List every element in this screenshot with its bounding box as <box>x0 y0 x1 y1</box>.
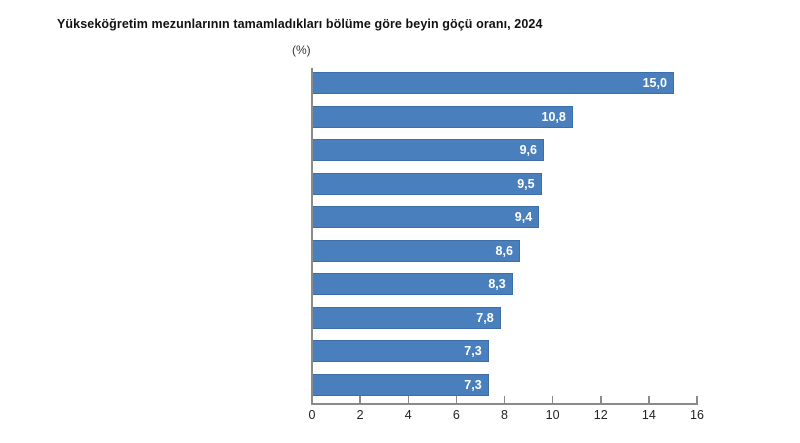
x-axis-tick-label: 16 <box>677 408 717 422</box>
x-axis-tick-label: 6 <box>436 408 476 422</box>
bar-value-label: 7,3 <box>422 340 482 362</box>
x-axis-tick-label: 0 <box>292 408 332 422</box>
x-axis-tick-label: 2 <box>340 408 380 422</box>
x-axis-tick-mark <box>600 396 602 403</box>
bar-value-label: 9,4 <box>472 206 532 228</box>
x-axis-tick-label: 14 <box>629 408 669 422</box>
plot-area: Moleküler biyoloji ve genetik15,0İşletme… <box>0 0 800 443</box>
x-axis-tick-mark <box>696 396 698 403</box>
bar-value-label: 15,0 <box>607 72 667 94</box>
bar-value-label: 7,3 <box>422 374 482 396</box>
x-axis-tick-mark <box>359 396 361 403</box>
bar-value-label: 8,3 <box>446 273 506 295</box>
bar-value-label: 7,8 <box>434 307 494 329</box>
bar-value-label: 8,6 <box>453 240 513 262</box>
bar-value-label: 9,5 <box>475 173 535 195</box>
brain-drain-bar-chart: Yükseköğretim mezunlarının tamamladıklar… <box>0 0 800 443</box>
x-axis-tick-mark <box>311 396 313 403</box>
x-axis-tick-mark <box>408 396 410 403</box>
x-axis-tick-label: 8 <box>485 408 525 422</box>
x-axis-tick-label: 4 <box>388 408 428 422</box>
x-axis-tick-label: 12 <box>581 408 621 422</box>
x-axis-tick-mark <box>648 396 650 403</box>
x-axis-tick-mark <box>552 396 554 403</box>
bar-value-label: 9,6 <box>477 139 537 161</box>
bar-value-label: 10,8 <box>506 106 566 128</box>
x-axis-tick-label: 10 <box>533 408 573 422</box>
x-axis-tick-mark <box>456 396 458 403</box>
x-axis-tick-mark <box>504 396 506 403</box>
category-axis-line <box>311 403 698 405</box>
